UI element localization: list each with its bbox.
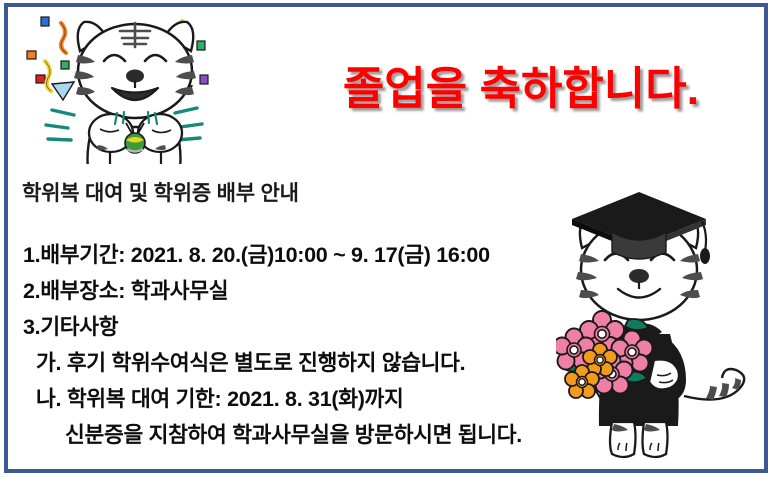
poster-frame: 졸업을 축하합니다. 학위복 대여 및 학위증 배부 안내 1.배부기간: 20…: [4, 3, 768, 473]
poster: 졸업을 축하합니다. 학위복 대여 및 학위증 배부 안내 1.배부기간: 20…: [0, 0, 773, 477]
page-title: 졸업을 축하합니다.: [286, 52, 756, 117]
header-row: 졸업을 축하합니다.: [8, 7, 764, 167]
graduate-tiger-icon: [556, 184, 760, 469]
notice-subtitle: 학위복 대여 및 학위증 배부 안내: [22, 177, 299, 207]
cheering-tiger-icon: [14, 9, 259, 164]
